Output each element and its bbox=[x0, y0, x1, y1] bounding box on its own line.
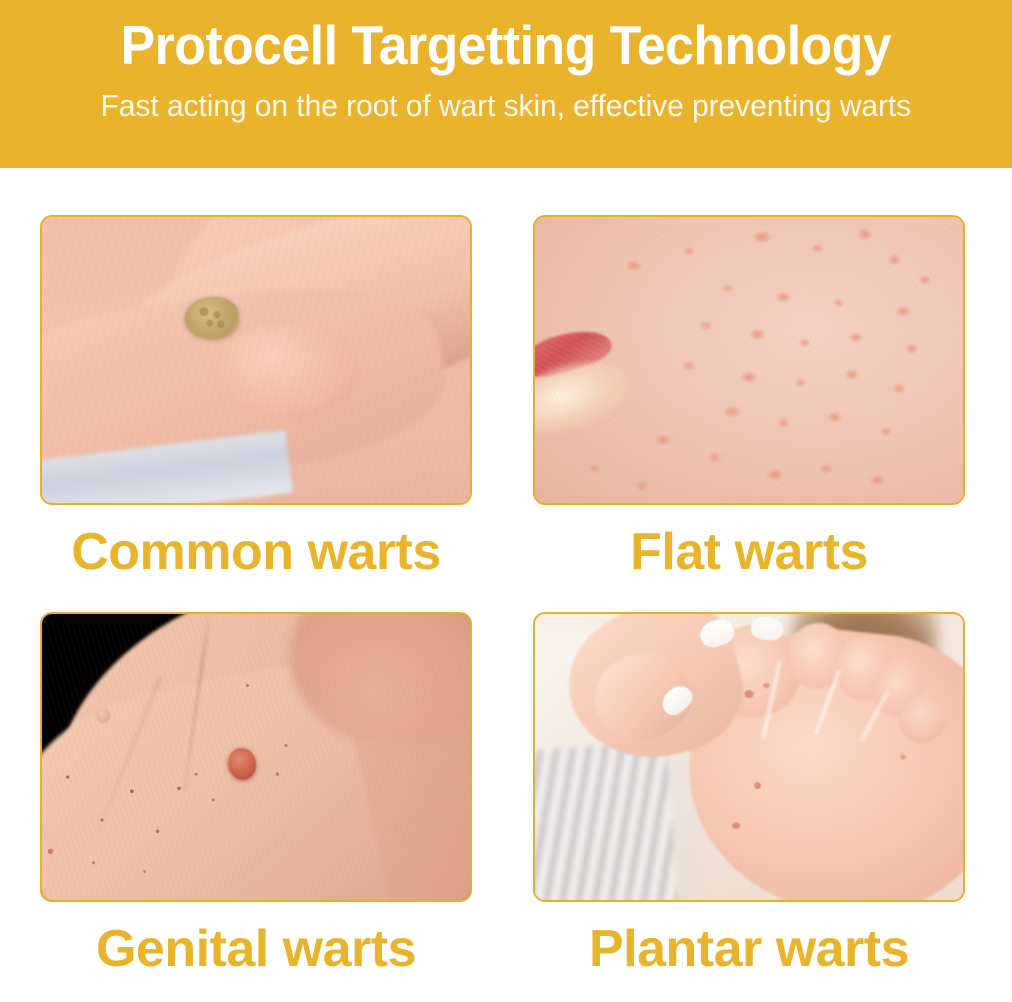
wart-type-label-common: Common warts bbox=[40, 521, 472, 583]
photo-plantar-wart-lesions bbox=[535, 614, 963, 900]
wart-type-card-genital: Genital warts bbox=[40, 612, 472, 980]
flat-warts-photo-frame bbox=[533, 215, 965, 505]
wart-type-label-flat: Flat warts bbox=[533, 521, 965, 583]
wart-type-card-flat: Flat warts bbox=[533, 215, 965, 583]
common-warts-photo-frame bbox=[40, 215, 472, 505]
header-banner: Protocell Targetting Technology Fast act… bbox=[0, 0, 1012, 168]
wart-type-card-common: Common warts bbox=[40, 215, 472, 583]
wart-type-card-plantar: Plantar warts bbox=[533, 612, 965, 980]
photo-flat-wart-lesions bbox=[535, 217, 963, 503]
wart-type-label-plantar: Plantar warts bbox=[533, 918, 965, 980]
genital-warts-photo-frame bbox=[40, 612, 472, 902]
genital-warts-neck-photo bbox=[42, 614, 470, 900]
plantar-warts-photo-frame bbox=[533, 612, 965, 902]
page-subtitle: Fast acting on the root of wart skin, ef… bbox=[101, 84, 912, 128]
photo-wart-lesion bbox=[185, 297, 239, 338]
product-infographic-page: Protocell Targetting Technology Fast act… bbox=[0, 0, 1012, 1002]
photo-wart-lesion bbox=[228, 748, 256, 779]
wart-type-grid: Common warts Flat warts bbox=[0, 168, 1012, 1002]
plantar-warts-foot-photo bbox=[535, 614, 963, 900]
page-title: Protocell Targetting Technology bbox=[121, 8, 892, 82]
flat-warts-face-photo bbox=[535, 217, 963, 503]
common-warts-hand-photo bbox=[42, 217, 470, 503]
wart-type-label-genital: Genital warts bbox=[40, 918, 472, 980]
photo-moles bbox=[42, 614, 470, 900]
